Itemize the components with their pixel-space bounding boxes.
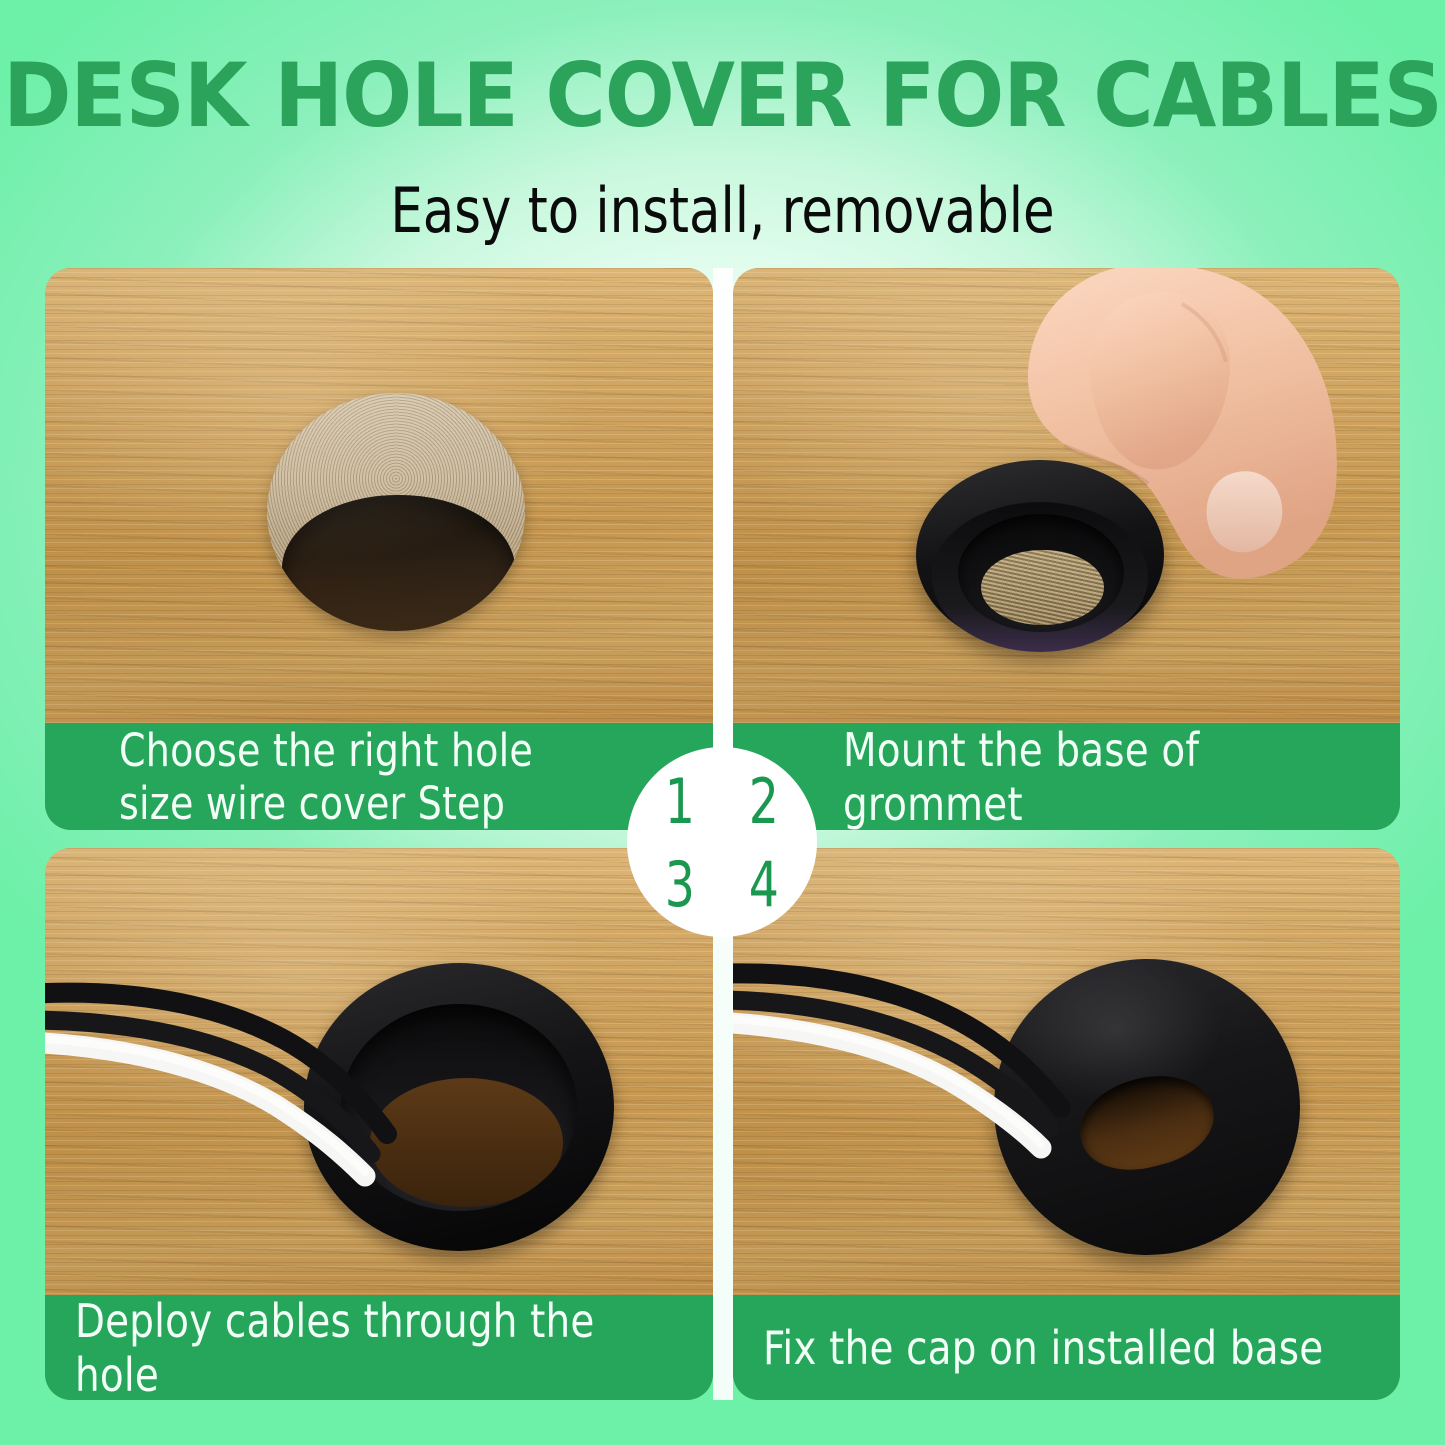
step-4-caption-text: Fix the cap on installed base	[763, 1321, 1334, 1375]
step-4-photo	[733, 848, 1400, 1295]
step-card-2[interactable]: Mount the base of grommet	[733, 268, 1400, 830]
step-card-4[interactable]: Fix the cap on installed base	[733, 848, 1400, 1400]
step-card-3[interactable]: Deploy cables through the hole	[45, 848, 713, 1400]
desk-hole-graphic	[267, 393, 525, 631]
cables-graphic-step-4	[733, 944, 1223, 1194]
hand-graphic	[968, 268, 1398, 620]
step-1-caption-text: Choose the right hole size wire cover St…	[119, 724, 645, 830]
step-badge-2: 2	[748, 757, 790, 833]
step-3-caption-text: Deploy cables through the hole	[75, 1294, 647, 1401]
step-2-caption-text: Mount the base of grommet	[843, 723, 1350, 831]
step-2-photo	[733, 268, 1400, 723]
step-2-caption-bar: Mount the base of grommet	[733, 723, 1400, 830]
poster-root: DESK HOLE COVER FOR CABLES Easy to insta…	[0, 0, 1445, 1445]
hole-cavity	[282, 495, 514, 631]
step-1-caption-bar: Choose the right hole size wire cover St…	[45, 723, 713, 830]
step-badge-3: 3	[654, 854, 694, 926]
step-number-badge-cluster: 1 2 3 4	[627, 747, 817, 937]
step-1-photo	[45, 268, 713, 723]
step-3-caption-bar: Deploy cables through the hole	[45, 1295, 713, 1400]
step-badge-1: 1	[654, 757, 694, 833]
step-card-1[interactable]: Choose the right hole size wire cover St…	[45, 268, 713, 830]
step-4-caption-bar: Fix the cap on installed base	[733, 1295, 1400, 1400]
cables-graphic-step-3	[45, 958, 555, 1218]
step-badge-4: 4	[748, 854, 790, 926]
step-3-photo	[45, 848, 713, 1295]
